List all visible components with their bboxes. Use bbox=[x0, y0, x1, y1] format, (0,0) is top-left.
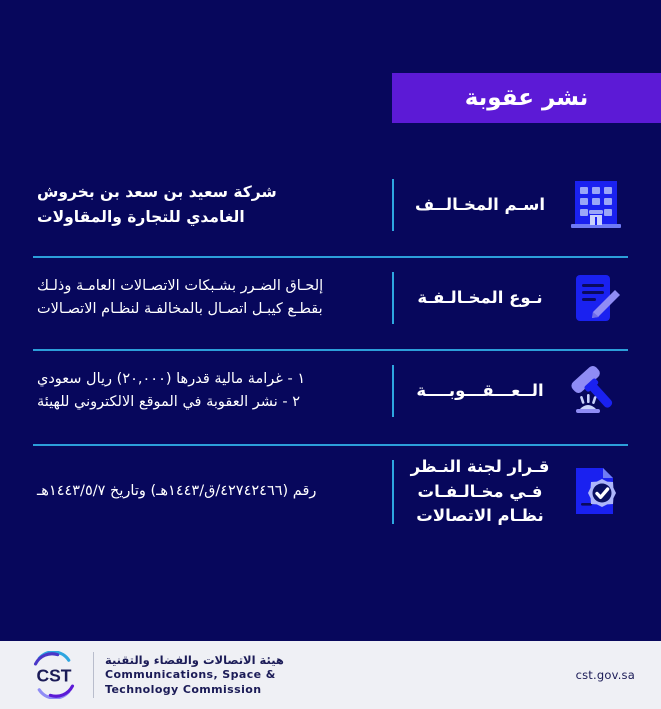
value-line: شركة سعيد بن سعد بن بخروش bbox=[37, 180, 374, 205]
label-line: قـرار لجنة النـظر bbox=[404, 455, 556, 480]
value-line: الغامدي للتجارة والمقاولات bbox=[37, 205, 374, 230]
value-line: رقم (٤٢٧٤٢٤٦٦/ق/١٤٤٣هـ) وتاريخ ١٤٤٣/٥/٧ه… bbox=[37, 480, 374, 503]
row-divider bbox=[33, 256, 628, 258]
document-pen-icon bbox=[564, 266, 628, 330]
logo-divider bbox=[93, 652, 94, 698]
table-row-violation-type: نـوع المخـالـفـة إلحـاق الضـرر بشـبكات ا… bbox=[33, 258, 628, 338]
footer: CST هيئة الاتصالات والفضاء والتقنية Comm… bbox=[0, 641, 661, 709]
row-value-violation-type: إلحـاق الضـرر بشـبكات الاتصـالات العامـة… bbox=[33, 275, 392, 322]
organization-name-en-line2: Technology Commission bbox=[105, 683, 284, 697]
row-divider bbox=[33, 349, 628, 351]
column-separator bbox=[392, 272, 394, 324]
cst-logo: CST هيئة الاتصالات والفضاء والتقنية Comm… bbox=[26, 651, 284, 699]
row-label-violator-name: اسـم المخـالــف bbox=[394, 193, 556, 218]
organization-name-en-line1: Communications, Space & bbox=[105, 668, 284, 682]
row-label-penalty: الــعـــقـــوبــــة bbox=[394, 379, 556, 404]
row-value-committee-decision: رقم (٤٢٧٤٢٤٦٦/ق/١٤٤٣هـ) وتاريخ ١٤٤٣/٥/٧ه… bbox=[33, 480, 392, 503]
value-line: بقطـع كيبـل اتصـال بالمخالفـة لنظـام الا… bbox=[37, 298, 374, 321]
label-line: فـي مخـالـفـات bbox=[404, 480, 556, 505]
building-icon bbox=[564, 173, 628, 237]
details-table: اسـم المخـالــف شركة سعيد بن سعد بن بخرو… bbox=[0, 135, 661, 641]
svg-text:CST: CST bbox=[36, 665, 71, 685]
value-line: ١ - غرامة مالية قدرها (٢٠,٠٠٠) ريال سعود… bbox=[37, 368, 374, 391]
row-label-violation-type: نـوع المخـالـفـة bbox=[394, 286, 556, 311]
website-url[interactable]: cst.gov.sa bbox=[576, 668, 635, 682]
table-row-committee-decision: قـرار لجنة النـظر فـي مخـالـفـات نظـام ا… bbox=[33, 446, 628, 538]
logo-text: هيئة الاتصالات والفضاء والتقنية Communic… bbox=[105, 653, 284, 698]
column-separator bbox=[392, 179, 394, 231]
value-line: ٢ - نشر العقوبة في الموقع الالكتروني لله… bbox=[37, 391, 374, 414]
table-row-penalty: الــعـــقـــوبــــة ١ - غرامة مالية قدره… bbox=[33, 351, 628, 431]
cst-logo-mark: CST bbox=[26, 651, 82, 699]
header-zone: نشر عقوبة bbox=[0, 0, 661, 135]
verified-document-icon bbox=[564, 460, 628, 524]
row-divider bbox=[33, 444, 628, 446]
row-value-penalty: ١ - غرامة مالية قدرها (٢٠,٠٠٠) ريال سعود… bbox=[33, 368, 392, 415]
header-banner: نشر عقوبة bbox=[392, 73, 661, 123]
penalty-publication-card: نشر عقوبة bbox=[0, 0, 661, 709]
table-row-violator-name: اسـم المخـالــف شركة سعيد بن سعد بن بخرو… bbox=[33, 165, 628, 245]
column-separator bbox=[392, 460, 394, 524]
gavel-icon bbox=[564, 359, 628, 423]
organization-name-ar: هيئة الاتصالات والفضاء والتقنية bbox=[105, 653, 284, 667]
page-title: نشر عقوبة bbox=[465, 87, 589, 110]
row-label-committee-decision: قـرار لجنة النـظر فـي مخـالـفـات نظـام ا… bbox=[394, 455, 556, 529]
value-line: إلحـاق الضـرر بشـبكات الاتصـالات العامـة… bbox=[37, 275, 374, 298]
label-line: نظـام الاتصالات bbox=[404, 504, 556, 529]
row-value-violator-name: شركة سعيد بن سعد بن بخروش الغامدي للتجار… bbox=[33, 180, 392, 230]
column-separator bbox=[392, 365, 394, 417]
